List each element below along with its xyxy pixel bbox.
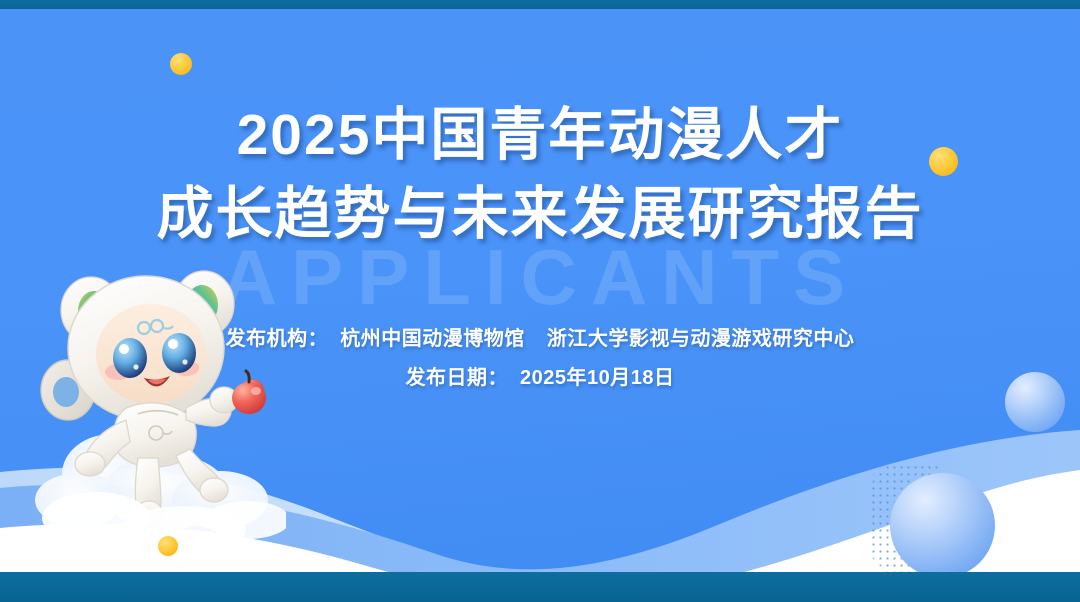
yellow-dot-top-left [170,53,192,75]
mascot-illustration [34,268,286,553]
date-value: 2025年10月18日 [520,367,674,389]
title-line-1: 2025中国青年动漫人才 [0,96,1080,175]
bottom-accent-bar [0,572,1080,602]
blue-sphere-large [890,473,995,578]
title-line-2: 成长趋势与未来发展研究报告 [0,175,1080,254]
report-cover-slide: APPLICANTS [0,0,1080,602]
publisher-name-1: 杭州中国动漫博物馆 [340,328,525,350]
date-label: 发布日期： [405,367,508,389]
yellow-dot-bottom-left [158,536,178,556]
apple [232,371,266,414]
cover-title: 2025中国青年动漫人才 成长趋势与未来发展研究报告 [0,96,1080,253]
top-accent-bar [0,0,1080,9]
publisher-name-2: 浙江大学影视与动漫游戏研究中心 [547,328,855,350]
